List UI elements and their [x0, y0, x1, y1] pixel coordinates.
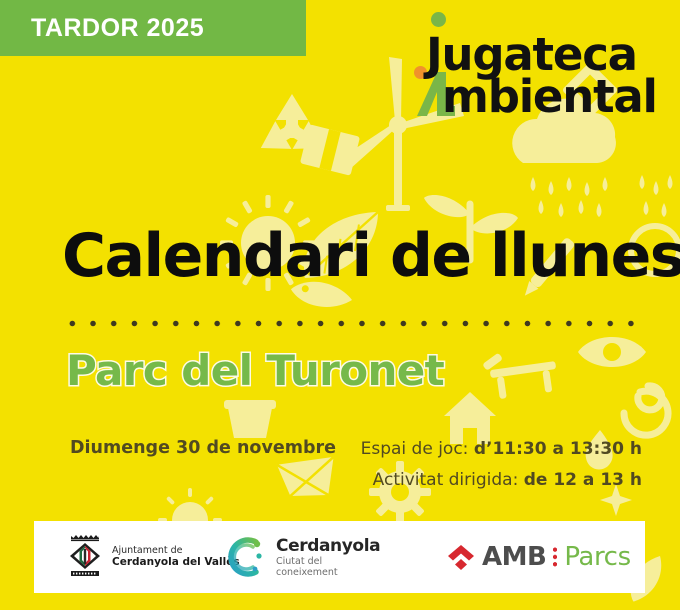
page-title: Calendari de llunes — [62, 224, 680, 289]
amb-label: AMB — [482, 542, 546, 572]
ajuntament-text: Ajuntament de Cerdanyola del Vallès — [112, 545, 240, 570]
footer-logo-strip: Ajuntament de Cerdanyola del Vallès — [34, 521, 645, 593]
event-time-row: Espai de joc: d’11:30 a 13:30 h — [361, 434, 642, 465]
event-time-label: Activitat dirigida: — [373, 470, 519, 490]
event-time-value: d’11:30 a 13:30 h — [474, 439, 642, 459]
green-dot-icon — [431, 12, 446, 27]
cerdanyola-line3: coneixement — [276, 567, 380, 578]
coat-of-arms-icon — [65, 534, 105, 580]
logo-cerdanyola-coneixement: Cerdanyola Ciutat del coneixement — [222, 534, 380, 580]
brand-line-ambiental: mbiental — [442, 74, 657, 119]
event-time-label: Espai de joc: — [361, 439, 469, 459]
season-banner-label: TARDOR 2025 — [0, 16, 204, 41]
cerdanyola-text: Cerdanyola Ciutat del coneixement — [276, 536, 380, 578]
amb-chevron-icon — [446, 542, 476, 572]
jugateca-ambiental-logo: Jugateca mbiental — [392, 8, 654, 120]
amb-dotted-separator-icon — [553, 546, 557, 568]
dotted-divider — [62, 320, 642, 327]
location-subtitle: Parc del Turonet — [66, 348, 444, 394]
ajuntament-line1: Ajuntament de — [112, 545, 240, 557]
event-time-row: Activitat dirigida: de 12 a 13 h — [361, 465, 642, 496]
event-date: Diumenge 30 de novembre — [70, 438, 336, 458]
cerdanyola-line1: Cerdanyola — [276, 536, 380, 556]
circle-c-icon — [222, 534, 268, 580]
event-time-value: de 12 a 13 h — [524, 470, 642, 490]
cerdanyola-line2: Ciutat del — [276, 556, 380, 567]
poster-root: TARDOR 2025 Jugateca mbiental Calendari … — [0, 0, 680, 610]
ajuntament-line2: Cerdanyola del Vallès — [112, 556, 240, 569]
season-banner: TARDOR 2025 — [0, 0, 306, 56]
logo-amb-parcs: AMB Parcs — [446, 542, 631, 572]
parcs-label: Parcs — [564, 542, 630, 572]
event-times: Espai de joc: d’11:30 a 13:30 h Activita… — [361, 434, 642, 497]
logo-ajuntament-cerdanyola: Ajuntament de Cerdanyola del Vallès — [65, 534, 240, 580]
